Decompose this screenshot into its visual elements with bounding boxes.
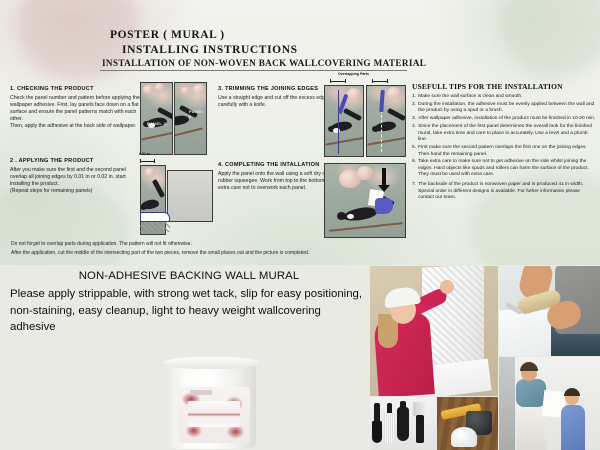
cut-line-dashed [381,110,382,152]
measure-bar-left [140,159,155,163]
step-2: 2 . APPLYING THE PRODUCT After you make … [10,158,142,195]
bucket-lid [163,357,259,369]
step-1: 1. CHECKING THE PRODUCT Check the panel … [10,86,142,130]
gloved-hand-illustration [375,198,393,214]
photo-woman-applying-wallpaper [370,266,498,396]
down-arrow-icon [382,168,386,186]
blossom-icon [357,166,373,180]
blossom-icon [347,88,361,100]
subtitle-divider [100,70,407,71]
blossom-icon [155,83,164,91]
tip-text: During the installation, the adhesive mu… [418,102,596,115]
tip-number: 2. [412,102,416,115]
tips-list: 1. Make sure the wall surface is clean a… [412,94,596,202]
footer-note-2: After the application, cut the middle of… [11,249,431,258]
tip-text: The backside of the product is nonwoven … [418,182,596,202]
diagram-step2-wall [167,170,213,222]
document-title: POSTER ( MURAL ) INSTALLING INSTRUCTIONS [110,28,298,58]
tip-text: Take extra care to make sure not to get … [418,159,596,179]
tip-item: 6. Take extra care to make sure not to g… [412,159,596,179]
tip-text: Make sure the wall surface is clean and … [418,94,596,101]
tip-number: 3. [412,116,416,123]
brush-icon [372,421,382,443]
title-line-2: INSTALLING INSTRUCTIONS [110,43,298,58]
bucket-label-tag [190,390,212,395]
tip-item: 4. Since the placement of the first pane… [412,124,596,144]
tip-number: 7. [412,182,416,202]
smoother-blade-icon [397,407,409,441]
measure-left-label: 0.01 in [139,152,150,156]
tip-number: 6. [412,159,416,179]
door-frame [499,357,515,450]
diagram-step3-panel-right [366,85,406,157]
bucket-label-plate [188,401,240,427]
bird-head [140,204,147,210]
step-2-body: After you make sure the first and the se… [10,167,142,195]
bird-illustration [141,188,166,212]
promo-block: NON-ADHESIVE BACKING WALL MURAL Please a… [10,270,368,336]
instruction-sheet: POSTER ( MURAL ) INSTALLING INSTRUCTIONS… [0,0,600,265]
tip-item: 3. After wallpaper adhesive, installatio… [412,116,596,123]
tip-text: Since the placement of the first panel d… [418,124,596,144]
diagram-step3-panel-left [324,85,364,157]
tip-text: First make sure the second pattern overl… [418,145,596,158]
photo-tools-on-workbench [437,397,498,450]
squeegee-illustration [140,212,170,222]
footer-notes: Do not forget to overlap parts during ap… [11,240,431,257]
measure-bar-overlap-2 [372,79,388,83]
tool-brush-handle [374,403,380,423]
diagram-step1-panel-3: PANEL 3 [174,82,207,155]
floral-wash-top-right [500,0,600,76]
tip-text: After wallpaper adhesive, installation o… [418,116,596,123]
step-1-heading: 1. CHECKING THE PRODUCT [10,86,142,92]
tip-number: 4. [412,124,416,144]
step-1-body: Check the panel number and pattern befor… [10,95,142,130]
paste-bucket [163,357,259,449]
bird-illustration [327,112,361,138]
promo-body: Please apply strippable, with strong wet… [10,286,368,336]
blossom-icon [387,87,401,99]
blossom-icon [181,87,189,94]
tip-item: 7. The backside of the product is nonwov… [412,182,596,202]
blossom-icon [145,168,155,176]
man-torso [516,379,546,407]
photo-grid [370,266,600,450]
diagram-step4-panel [324,163,406,238]
blossom-icon [193,84,205,94]
bucket-label [178,387,250,443]
wallpaper-roll [451,427,477,447]
title-line-1: POSTER ( MURAL ) [110,28,298,43]
diagram-step1-panel-2: PANEL 2 [140,82,173,155]
panel-2-label: PANEL 2 [147,121,166,126]
overlapping-parts-label: Overlapping Parts [338,72,369,76]
footer-note-1: Do not forget to overlap parts during ap… [11,240,431,249]
bird-head [372,126,379,132]
photo-installation-tools [370,397,436,450]
useful-tips-block: USEFULL TIPS FOR THE INSTALLATION 1. Mak… [412,82,596,203]
tip-item: 2. During the installation, the adhesive… [412,102,596,115]
document-subtitle: INSTALLATION OF NON-WOVEN BACK WALLCOVER… [102,58,426,68]
smoothing-comb-icon [384,413,395,443]
woman-hand [440,280,454,294]
photo-man-and-child-hanging-mural [499,357,600,450]
step-2-heading: 2 . APPLYING THE PRODUCT [10,158,142,164]
straight-edge-guide [338,90,339,154]
tip-number: 5. [412,145,416,158]
tips-heading: USEFULL TIPS FOR THE INSTALLATION [412,82,596,91]
bird-illustration [371,112,405,138]
photo-hands-with-paste-roller [499,266,600,356]
tip-number: 1. [412,94,416,101]
adhesive-hatching [140,222,170,232]
bucket-body [166,365,256,449]
blossom-icon [143,85,154,94]
screenshot-root: POSTER ( MURAL ) INSTALLING INSTRUCTIONS… [0,0,600,450]
measure-bar-overlap-1 [330,79,346,83]
tip-item: 1. Make sure the wall surface is clean a… [412,94,596,101]
bird-body [174,115,190,127]
panel-3-label: PANEL 3 [189,109,206,119]
promo-headline: NON-ADHESIVE BACKING WALL MURAL [10,270,368,282]
tip-item: 5. First make sure the second pattern ov… [412,145,596,158]
bird-head [337,212,346,220]
scraper-blade-icon [413,402,427,416]
bird-belly [347,214,354,219]
child-torso [561,405,585,450]
scraper-handle [416,415,424,443]
down-arrow-head-icon [378,185,390,192]
